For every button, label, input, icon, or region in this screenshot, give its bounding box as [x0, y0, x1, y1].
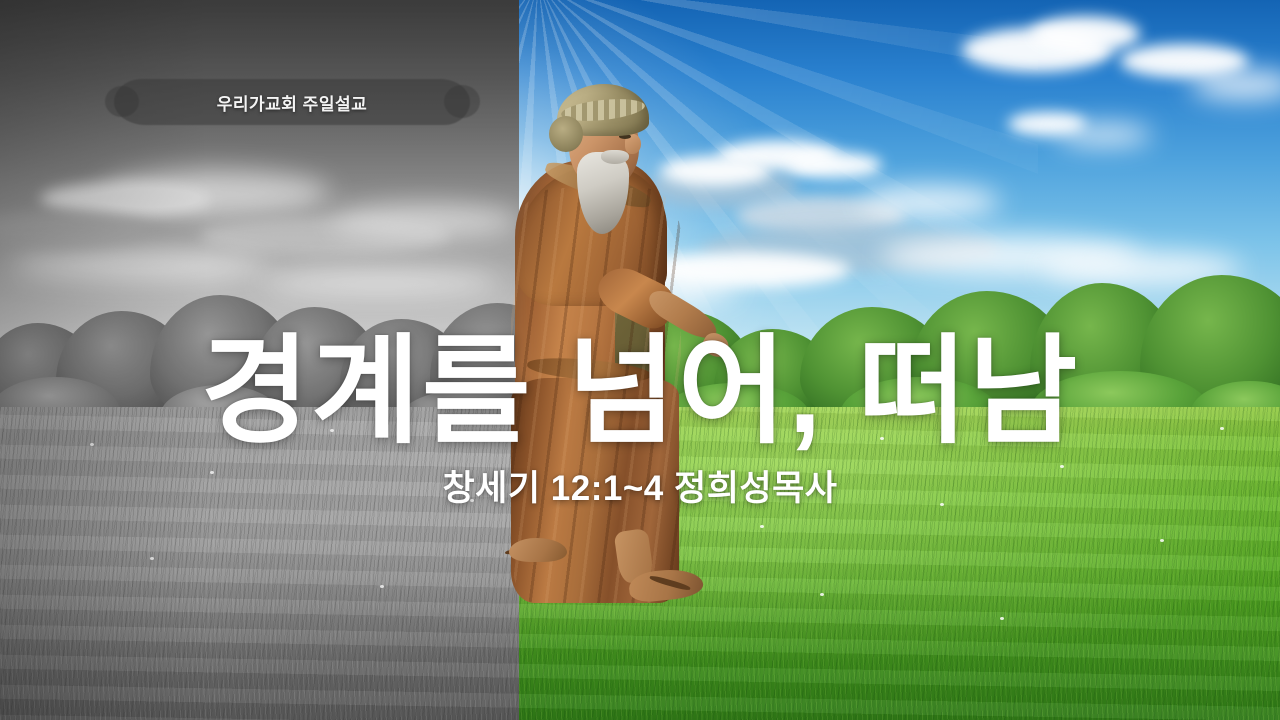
turban-knot: [549, 116, 583, 152]
moustache: [601, 150, 629, 164]
church-badge: 우리가교회 주일설교: [114, 79, 470, 125]
flower-icon: [1160, 539, 1164, 542]
sermon-title: 경계를 넘어, 떠남: [0, 332, 1280, 452]
title-block: 경계를 넘어, 떠남 창세기 12:1~4 정희성목사: [0, 332, 1280, 511]
flower-icon: [760, 525, 764, 528]
cloud-icon: [1030, 16, 1140, 52]
sermon-subtitle: 창세기 12:1~4 정희성목사: [0, 460, 1280, 511]
cloud-icon: [860, 186, 1000, 218]
flower-icon: [1000, 617, 1004, 620]
back-foot: [509, 538, 567, 562]
cloud-icon: [1056, 124, 1152, 146]
flower-icon: [820, 593, 824, 596]
back-leg: [509, 530, 567, 566]
cloud-icon: [786, 152, 882, 178]
badge-label: 우리가교회 주일설교: [217, 90, 367, 115]
sermon-title-slide: 우리가교회 주일설교 경계를 넘어, 떠남 창세기 12:1~4 정희성목사: [0, 0, 1280, 720]
